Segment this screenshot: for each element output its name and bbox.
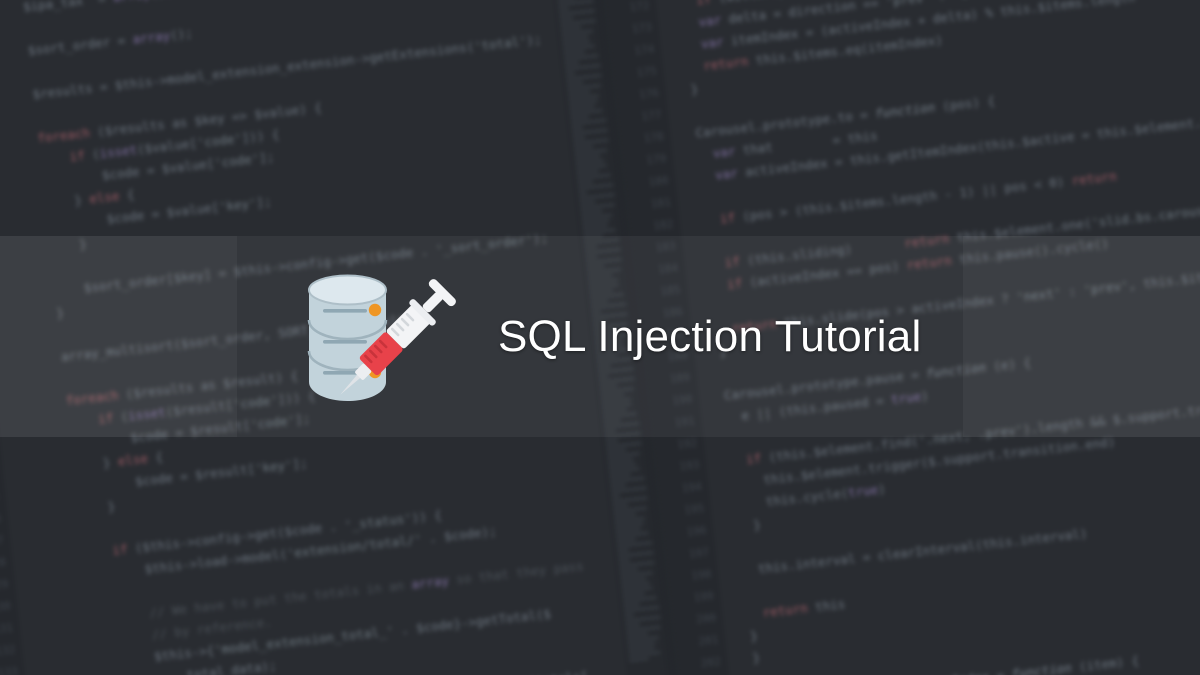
status-dot-top [369,304,381,316]
database-syringe-svg [283,254,483,419]
page-title: SQL Injection Tutorial [498,312,921,360]
wallpaper-hero-banner: 95 96 97 98 99 100 101 102 103 104 105 1… [0,0,1200,675]
database-icon [309,276,386,402]
hero-content: SQL Injection Tutorial [0,236,1200,437]
database-syringe-icon [283,254,483,419]
